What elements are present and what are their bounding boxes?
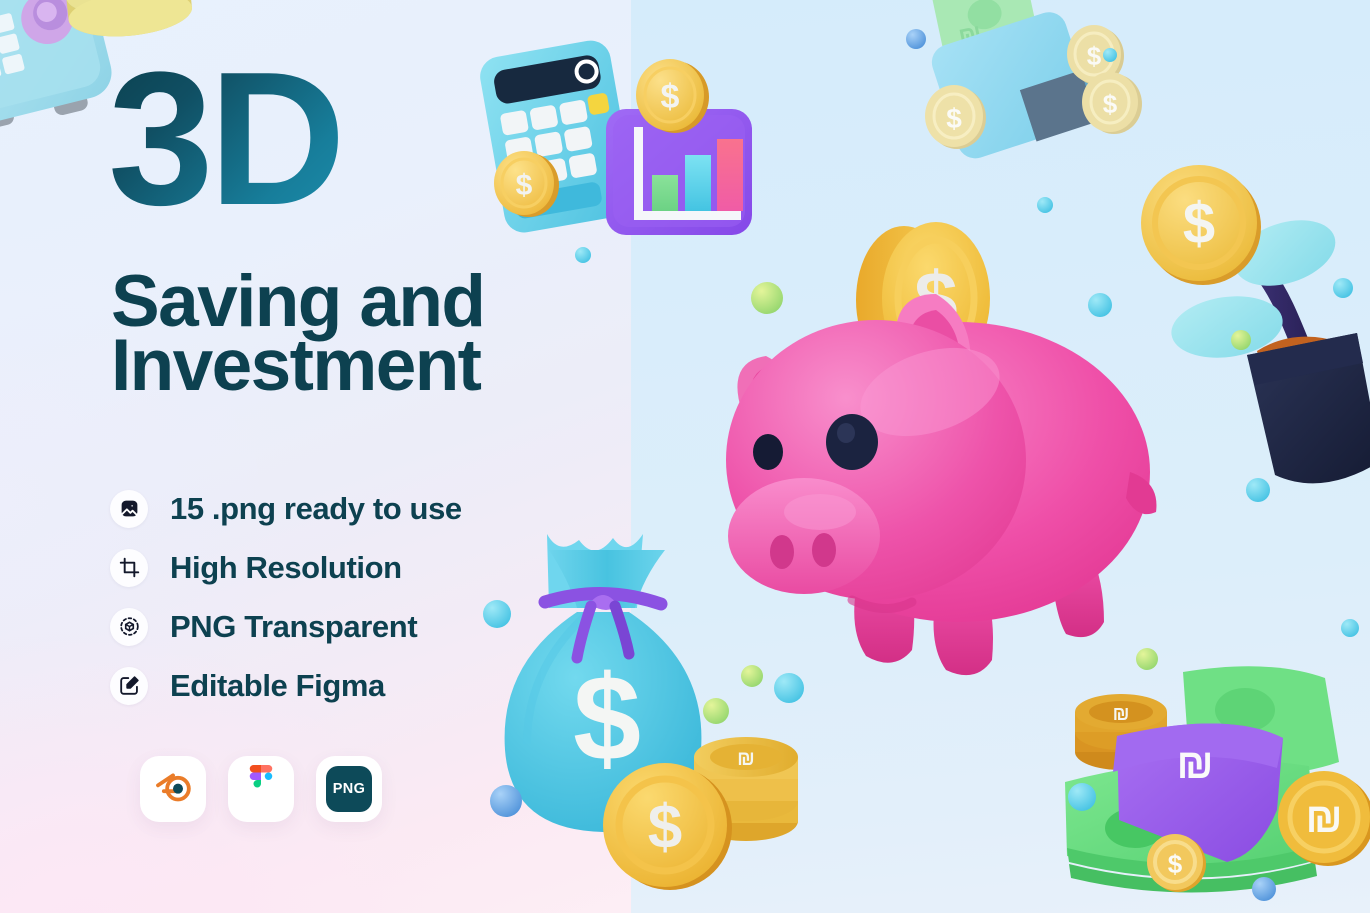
poster-text-column: 3D Saving and Investment 15 .png ready t…	[0, 0, 631, 913]
feature-label: 15 .png ready to use	[170, 491, 462, 527]
edit-icon	[110, 667, 148, 705]
svg-text:$: $	[648, 793, 682, 862]
feature-list: 15 .png ready to use High Resolution PNG…	[110, 479, 462, 715]
feature-label: High Resolution	[170, 550, 402, 586]
feature-item-transparency: PNG Transparent	[110, 597, 462, 656]
feature-item-resolution: High Resolution	[110, 538, 462, 597]
page-title-3d: 3D	[108, 52, 341, 227]
png-badge[interactable]: PNG	[316, 756, 382, 822]
page-subtitle: Saving and Investment	[111, 270, 484, 398]
feature-item-png-count: 15 .png ready to use	[110, 479, 462, 538]
blender-icon	[153, 770, 193, 809]
feature-label: PNG Transparent	[170, 609, 417, 645]
blender-badge[interactable]	[140, 756, 206, 822]
format-badge-group: PNG	[140, 756, 382, 822]
figma-icon	[246, 765, 276, 814]
crop-icon	[110, 549, 148, 587]
figma-badge[interactable]	[228, 756, 294, 822]
png-badge-label: PNG	[326, 766, 372, 812]
image-icon	[110, 490, 148, 528]
feature-item-editable: Editable Figma	[110, 656, 462, 715]
transparency-icon	[110, 608, 148, 646]
feature-label: Editable Figma	[170, 668, 385, 704]
piggy-bank-illustration	[700, 300, 1180, 720]
